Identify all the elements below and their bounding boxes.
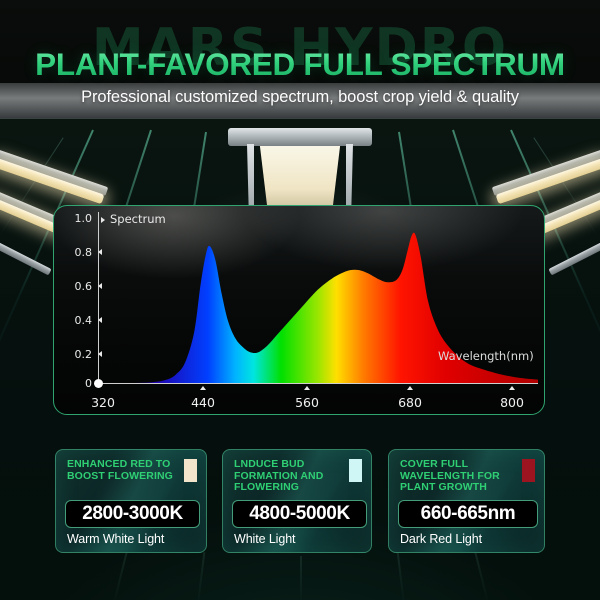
chart-x-axis-title: Wavelength(nm) xyxy=(438,349,534,363)
spectrum-card[interactable]: LNDUCE BUD FORMATION AND FLOWERING 4800-… xyxy=(222,449,372,553)
x-tick-label: 680 xyxy=(388,395,432,410)
card-heading: COVER FULL WAVELENGTH FOR PLANT GROWTH xyxy=(400,459,518,494)
color-swatch xyxy=(184,459,197,482)
light-streak xyxy=(300,556,302,600)
x-tick-mark-icon xyxy=(304,386,310,390)
y-tick-mark-icon xyxy=(98,249,102,255)
y-tick-label: 0 xyxy=(66,377,92,390)
x-tick-mark-icon xyxy=(200,386,206,390)
card-footer: White Light xyxy=(234,532,295,546)
y-tick-mark-icon xyxy=(98,317,102,323)
card-value-box: 660-665nm xyxy=(398,500,538,528)
y-tick-label: 1.0 xyxy=(66,212,92,225)
card-value-box: 4800-5000K xyxy=(232,500,367,528)
card-footer: Dark Red Light xyxy=(400,532,482,546)
card-value: 4800-5000K xyxy=(249,503,350,525)
x-tick-label: 440 xyxy=(181,395,225,410)
card-value: 660-665nm xyxy=(421,503,516,525)
color-swatch xyxy=(349,459,362,482)
y-tick-label: 0.6 xyxy=(66,280,92,293)
page-title: PLANT-FAVORED FULL SPECTRUM xyxy=(0,46,600,83)
y-tick-label: 0.2 xyxy=(66,348,92,361)
page-subtitle: Professional customized spectrum, boost … xyxy=(0,88,600,107)
center-led-fixture xyxy=(228,128,372,146)
chart-x-axis xyxy=(98,383,538,384)
y-tick-mark-icon xyxy=(98,283,102,289)
spectrum-card[interactable]: COVER FULL WAVELENGTH FOR PLANT GROWTH 6… xyxy=(388,449,545,553)
x-tick-mark-icon xyxy=(509,386,515,390)
card-value: 2800-3000K xyxy=(82,503,183,525)
spectrum-card[interactable]: ENHANCED RED TO BOOST FLOWERING 2800-300… xyxy=(55,449,207,553)
card-footer: Warm White Light xyxy=(67,532,164,546)
chart-y-axis xyxy=(98,212,99,384)
color-swatch xyxy=(522,459,535,482)
chart-legend-label: Spectrum xyxy=(110,212,166,226)
y-tick-label: 0.4 xyxy=(66,314,92,327)
y-tick-label: 0.8 xyxy=(66,246,92,259)
x-tick-mark-icon xyxy=(407,386,413,390)
y-tick-mark-icon xyxy=(98,351,102,357)
legend-marker-icon xyxy=(101,217,105,223)
card-value-box: 2800-3000K xyxy=(65,500,200,528)
card-heading: ENHANCED RED TO BOOST FLOWERING xyxy=(67,459,179,482)
x-tick-label: 560 xyxy=(285,395,329,410)
chart-origin-marker xyxy=(94,379,103,388)
card-heading: LNDUCE BUD FORMATION AND FLOWERING xyxy=(234,459,346,494)
x-tick-label: 320 xyxy=(81,395,125,410)
x-tick-label: 800 xyxy=(490,395,534,410)
